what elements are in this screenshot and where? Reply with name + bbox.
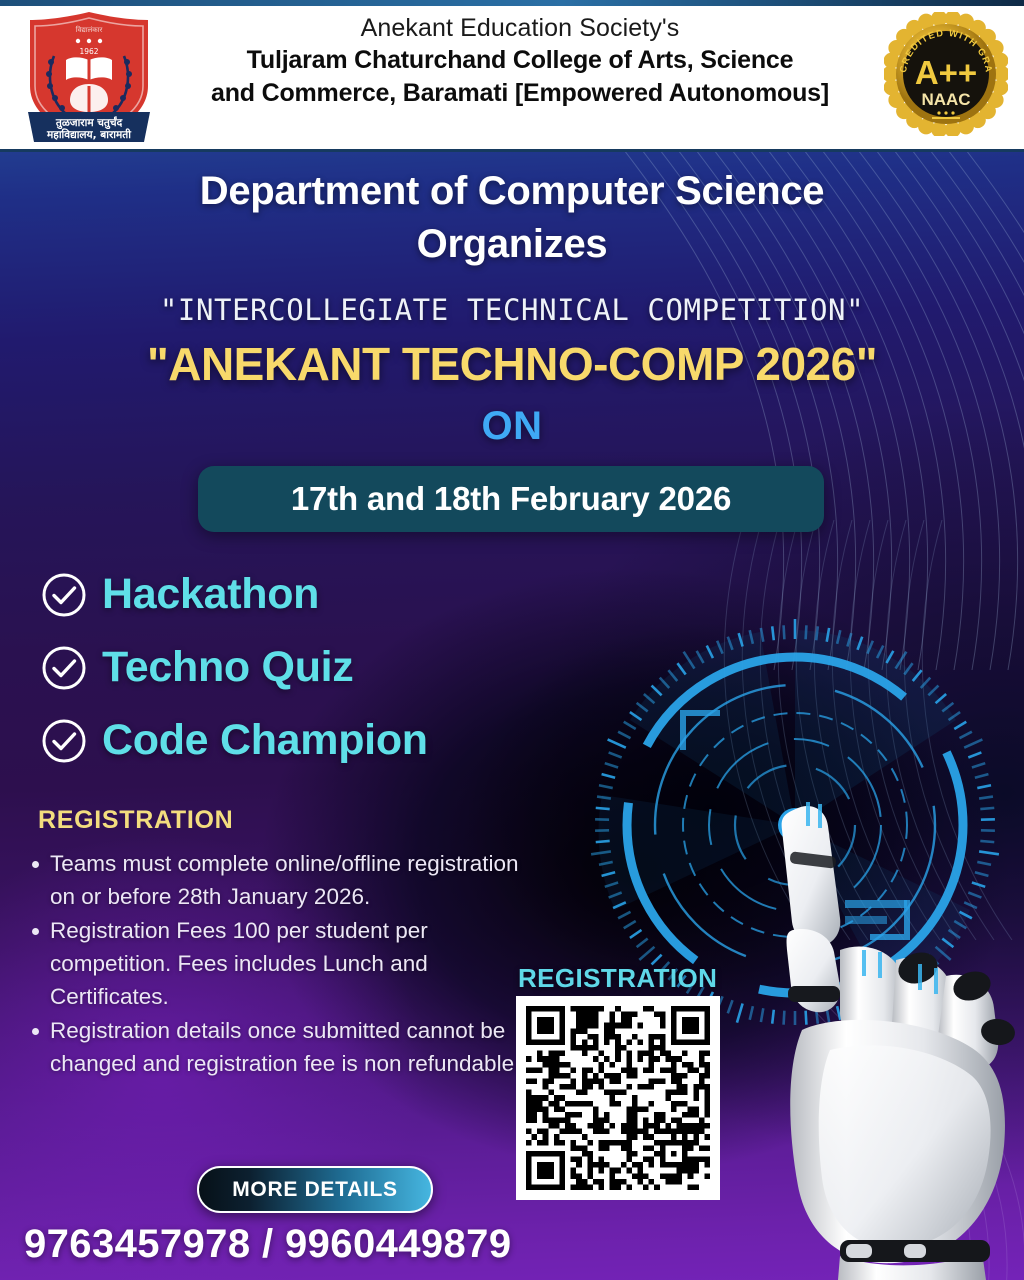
page-title: Department of Computer Science Organizes: [0, 165, 1024, 271]
header-top-rule: [0, 0, 1024, 6]
list-item: Code Champion: [40, 704, 600, 777]
header-text-block: Anekant Education Society's Tuljaram Cha…: [175, 14, 865, 110]
circle-check-icon: [40, 717, 88, 765]
svg-text:महाविद्यालय, बारामती: महाविद्यालय, बारामती: [46, 128, 132, 141]
list-item: Teams must complete online/offline regis…: [50, 848, 535, 913]
event-label: Code Champion: [102, 716, 428, 765]
circle-check-icon: [40, 571, 88, 619]
poster-header: विद्यालंकार 1962 अनेकांत एज्युकेशन सोसाय…: [0, 0, 1024, 152]
naac-grade-text: A++: [915, 54, 977, 91]
event-dates: 17th and 18th February 2026: [291, 480, 731, 518]
on-label: ON: [0, 404, 1024, 449]
events-list: Hackathon Techno Quiz Code Champion: [40, 558, 600, 777]
event-date-banner: 17th and 18th February 2026: [198, 466, 824, 532]
competition-subtitle: "INTERCOLLEGIATE TECHNICAL COMPETITION": [0, 293, 1024, 327]
registration-rules-list: Teams must complete online/offline regis…: [22, 848, 535, 1082]
college-name-line1: Tuljaram Chaturchand College of Arts, Sc…: [175, 44, 865, 77]
list-item: Techno Quiz: [40, 631, 600, 704]
svg-text:विद्यालंकार: विद्यालंकार: [76, 25, 103, 34]
naac-accreditation-badge: ACCREDITED WITH GRADE A++ NAAC: [884, 12, 1008, 136]
poster-root: (function(){ const g=document.getElement…: [0, 0, 1024, 1280]
registration-qr-code[interactable]: [516, 996, 720, 1200]
contact-phone-numbers: 9763457978 / 9960449879: [24, 1222, 511, 1267]
more-details-button[interactable]: MORE DETAILS: [197, 1166, 433, 1213]
naac-body-text: NAAC: [921, 90, 970, 109]
event-label: Hackathon: [102, 570, 319, 619]
department-line-1: Department of Computer Science: [0, 165, 1024, 218]
svg-text:तुळजाराम चतुर्चंद: तुळजाराम चतुर्चंद: [55, 116, 123, 130]
circle-check-icon: [40, 644, 88, 692]
event-label: Techno Quiz: [102, 643, 354, 692]
list-item: Registration details once submitted cann…: [50, 1015, 535, 1080]
society-name: Anekant Education Society's: [175, 14, 865, 44]
robot-hand-graphic: [690, 800, 1024, 1280]
qr-registration-label: REGISTRATION: [518, 963, 717, 994]
registration-heading: REGISTRATION: [38, 806, 233, 835]
svg-text:1962: 1962: [79, 47, 98, 56]
qr-code-image: [526, 1006, 710, 1190]
department-line-2: Organizes: [0, 218, 1024, 271]
list-item: Hackathon: [40, 558, 600, 631]
college-crest-logo: विद्यालंकार 1962 अनेकांत एज्युकेशन सोसाय…: [18, 8, 160, 146]
college-name-line2: and Commerce, Baramati [Empowered Autono…: [175, 77, 865, 110]
list-item: Registration Fees 100 per student per co…: [50, 915, 535, 1013]
event-name-title: "ANEKANT TECHNO-COMP 2026": [0, 337, 1024, 391]
more-details-label: MORE DETAILS: [232, 1178, 398, 1202]
